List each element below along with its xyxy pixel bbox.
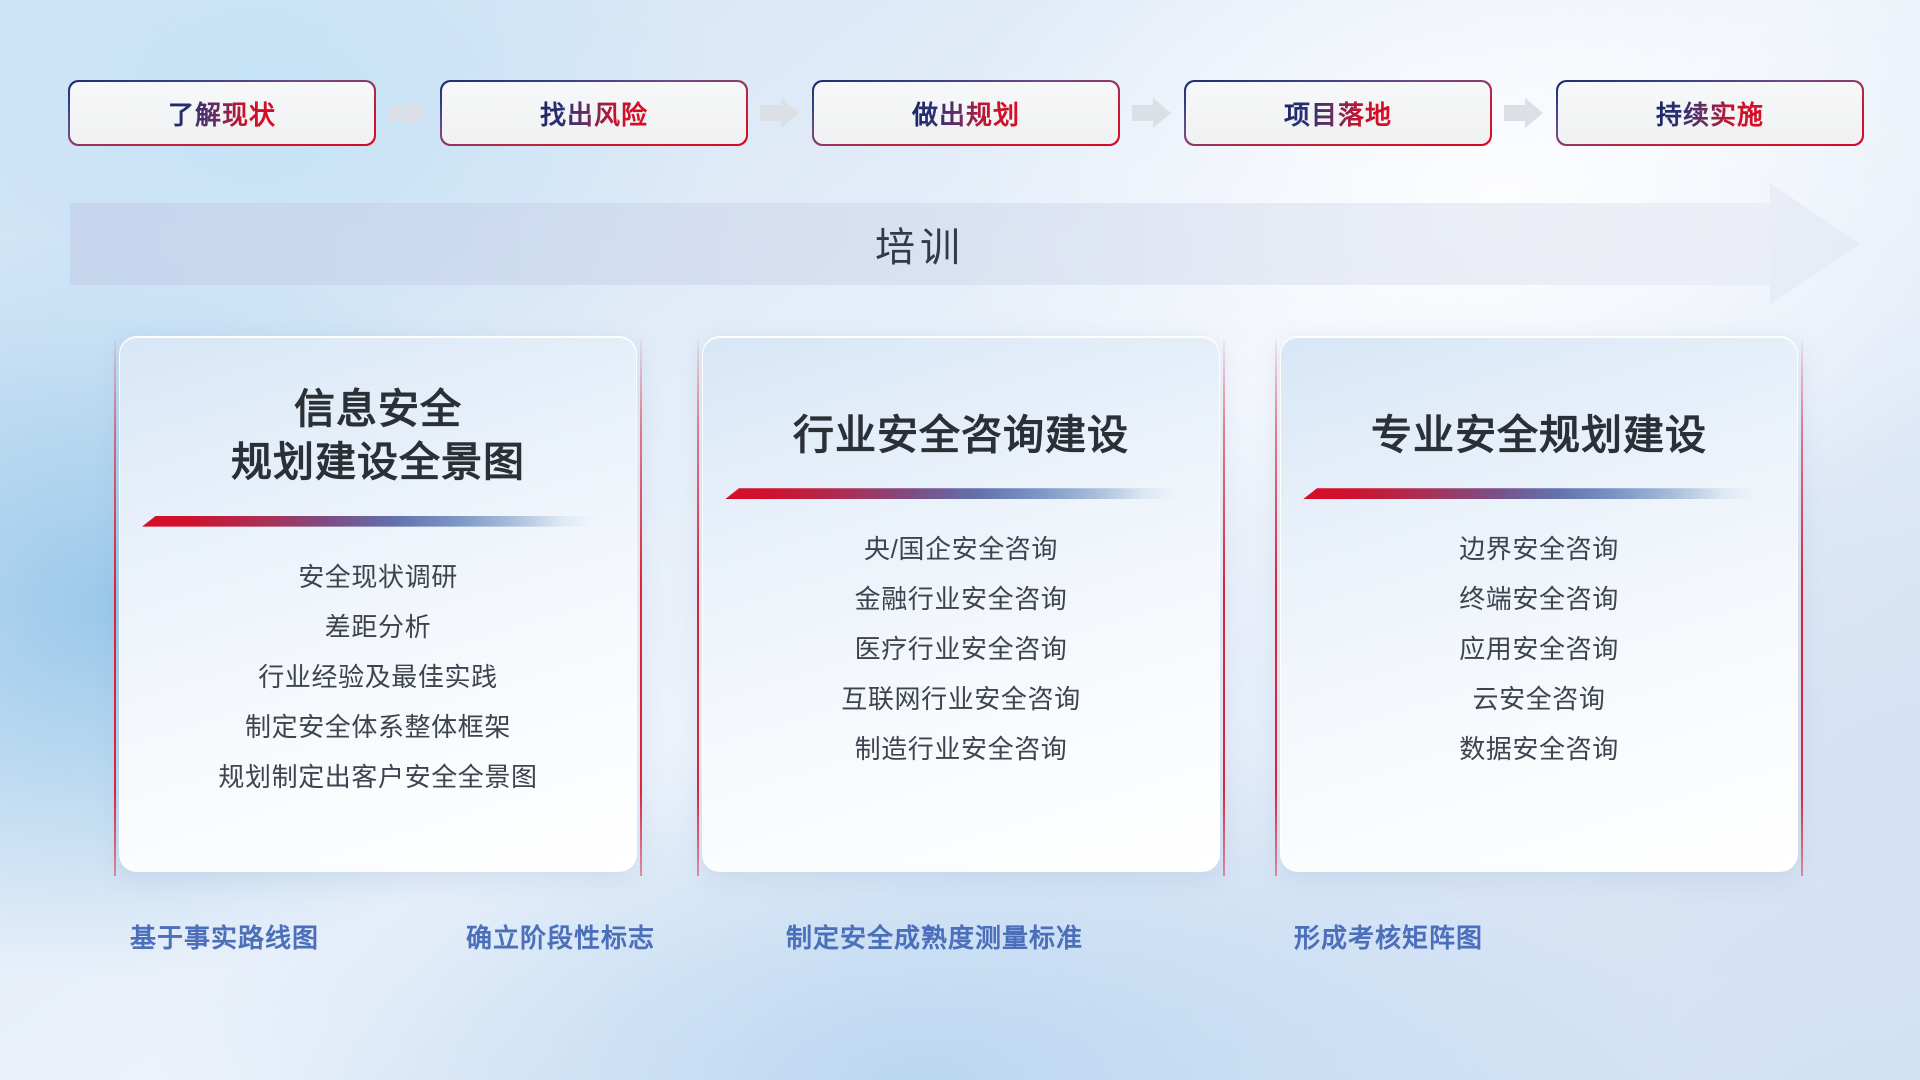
card-3-title-line-1: 专业安全规划建设	[1371, 412, 1707, 458]
list-item: 差距分析	[120, 614, 636, 640]
list-item: 央/国企安全咨询	[703, 536, 1219, 562]
list-item: 行业经验及最佳实践	[120, 664, 636, 690]
flow-step-5[interactable]: 持续实施	[1558, 82, 1862, 144]
card-2-title-line-1: 行业安全咨询建设	[793, 412, 1129, 458]
list-item: 医疗行业安全咨询	[703, 636, 1219, 662]
gradient-divider-icon	[142, 516, 594, 527]
flow-step-3[interactable]: 做出规划	[814, 82, 1118, 144]
list-item: 制造行业安全咨询	[703, 736, 1219, 762]
flow-step-1[interactable]: 了解现状	[70, 82, 374, 144]
arrow-right-icon	[374, 82, 442, 144]
flow-step-3-label: 做出规划	[912, 95, 1020, 132]
card-1-divider-wrap	[120, 516, 636, 530]
card-wrapper-1: 信息安全 规划建设全景图 安全现状调研 差距分析 行业经验及最佳实践 制定安全体…	[114, 336, 642, 876]
card-rail-right	[640, 340, 642, 876]
list-item: 数据安全咨询	[1281, 736, 1797, 762]
list-item: 规划制定出客户安全全景图	[120, 764, 636, 790]
flow-step-4-label: 项目落地	[1284, 95, 1392, 132]
list-item: 金融行业安全咨询	[703, 586, 1219, 612]
card-1-list: 安全现状调研 差距分析 行业经验及最佳实践 制定安全体系整体框架 规划制定出客户…	[120, 530, 636, 790]
flow-step-5-label: 持续实施	[1656, 95, 1764, 132]
caption-roadmap: 基于事实路线图	[130, 918, 319, 955]
card-professional-security-planning[interactable]: 专业安全规划建设 边界安全咨询 终端安全咨询 应用安全咨询 云安全咨询 数据安全…	[1280, 336, 1798, 872]
list-item: 制定安全体系整体框架	[120, 714, 636, 740]
card-1-title-line-1: 信息安全	[294, 386, 462, 432]
caption-milestones: 确立阶段性标志	[466, 918, 655, 955]
card-2-title: 行业安全咨询建设	[703, 337, 1219, 462]
caption-maturity-standard: 制定安全成熟度测量标准	[786, 918, 1083, 955]
list-item: 互联网行业安全咨询	[703, 686, 1219, 712]
training-banner-label: 培训	[70, 203, 1770, 285]
card-wrapper-3: 专业安全规划建设 边界安全咨询 终端安全咨询 应用安全咨询 云安全咨询 数据安全…	[1275, 336, 1803, 876]
flow-step-1-label: 了解现状	[168, 95, 276, 132]
arrow-right-icon	[1490, 82, 1558, 144]
caption-assessment-matrix: 形成考核矩阵图	[1294, 918, 1483, 955]
card-1-title: 信息安全 规划建设全景图	[120, 337, 636, 490]
card-2-list: 央/国企安全咨询 金融行业安全咨询 医疗行业安全咨询 互联网行业安全咨询 制造行…	[703, 502, 1219, 762]
list-item: 云安全咨询	[1281, 686, 1797, 712]
card-1-title-line-2: 规划建设全景图	[231, 439, 525, 485]
card-3-list: 边界安全咨询 终端安全咨询 应用安全咨询 云安全咨询 数据安全咨询	[1281, 502, 1797, 762]
list-item: 应用安全咨询	[1281, 636, 1797, 662]
flow-step-4[interactable]: 项目落地	[1186, 82, 1490, 144]
card-2-divider-wrap	[703, 488, 1219, 502]
card-rail-right	[1801, 340, 1803, 876]
card-3-divider-wrap	[1281, 488, 1797, 502]
card-rail-left	[1275, 340, 1277, 876]
process-flow-row: 了解现状 找出风险 做出规划 项目落地 持续实施	[70, 79, 1860, 147]
arrow-right-icon	[1118, 82, 1186, 144]
card-rail-left	[697, 340, 699, 876]
cards-row: 信息安全 规划建设全景图 安全现状调研 差距分析 行业经验及最佳实践 制定安全体…	[0, 336, 1920, 876]
gradient-divider-icon	[1303, 488, 1755, 499]
arrow-right-icon	[1770, 183, 1860, 305]
list-item: 安全现状调研	[120, 564, 636, 590]
card-wrapper-2: 行业安全咨询建设 央/国企安全咨询 金融行业安全咨询 医疗行业安全咨询 互联网行…	[697, 336, 1225, 876]
card-rail-right	[1223, 340, 1225, 876]
card-3-title: 专业安全规划建设	[1281, 337, 1797, 462]
card-information-security-blueprint[interactable]: 信息安全 规划建设全景图 安全现状调研 差距分析 行业经验及最佳实践 制定安全体…	[119, 336, 637, 872]
gradient-divider-icon	[725, 488, 1177, 499]
list-item: 终端安全咨询	[1281, 586, 1797, 612]
arrow-right-icon	[746, 82, 814, 144]
slide-canvas: 了解现状 找出风险 做出规划 项目落地 持续实施 培训	[0, 0, 1920, 1080]
list-item: 边界安全咨询	[1281, 536, 1797, 562]
flow-step-2-label: 找出风险	[540, 95, 648, 132]
flow-step-2[interactable]: 找出风险	[442, 82, 746, 144]
card-industry-security-consulting[interactable]: 行业安全咨询建设 央/国企安全咨询 金融行业安全咨询 医疗行业安全咨询 互联网行…	[702, 336, 1220, 872]
training-banner: 培训	[70, 203, 1860, 285]
card-rail-left	[114, 340, 116, 876]
